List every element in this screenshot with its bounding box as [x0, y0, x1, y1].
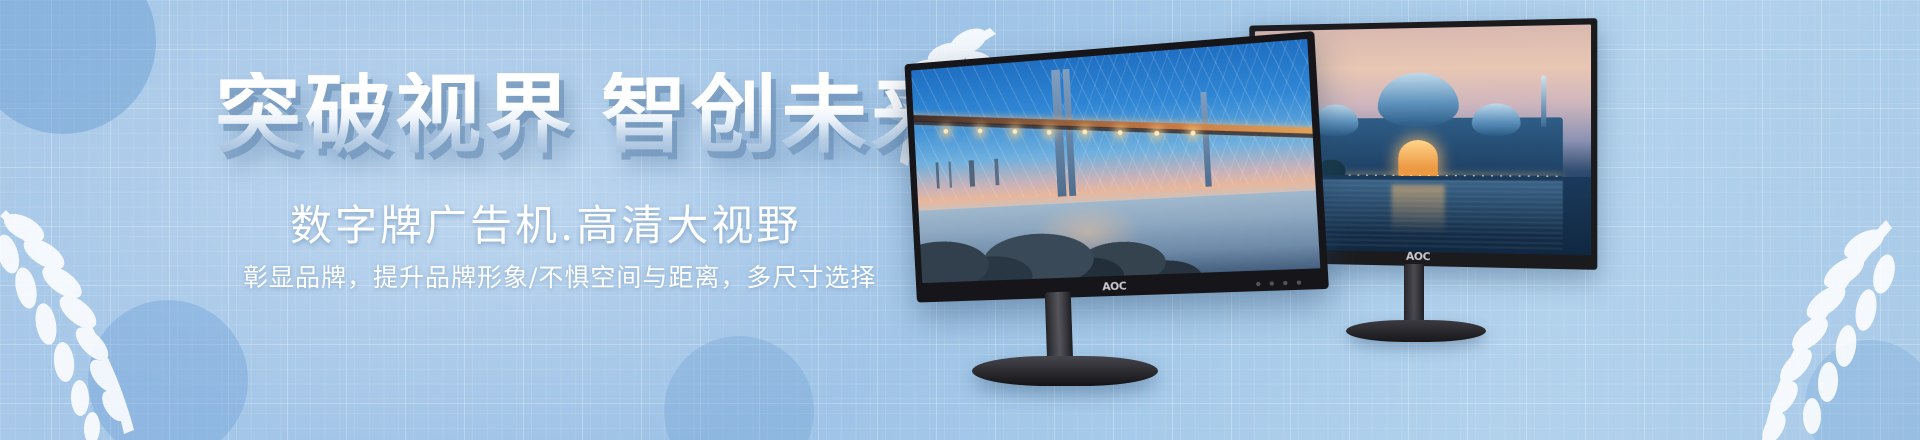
monitor-stand-neck: [1404, 264, 1424, 326]
bridge-cables-right: [1055, 39, 1315, 190]
foreground-rocks: [911, 210, 1203, 283]
page-title: 突破视界智创未来: [215, 72, 961, 158]
monitor-control-buttons[interactable]: [1256, 280, 1301, 286]
brand-logo: AOC: [1406, 250, 1430, 263]
monitor-stand-base: [1346, 320, 1486, 342]
decor-circle-bottom-right: [1805, 340, 1920, 440]
mosque-minaret-right: [1542, 76, 1547, 126]
mosque-reflection-glow: [1391, 185, 1445, 244]
mosque-arch: [1398, 140, 1438, 176]
product-monitor-left: AOC: [898, 48, 1338, 398]
bridge-lamp: [1012, 129, 1017, 134]
monitor-stand-base: [972, 356, 1158, 386]
bridge-lamp: [1047, 129, 1052, 134]
promo-banner: 突破视界智创未来 数字牌广告机.高清大视野 彰显品牌，提升品牌形象/不惧空间与距…: [0, 0, 1920, 440]
subtitle: 数字牌广告机.高清大视野: [290, 192, 801, 253]
mosque-dome-main: [1378, 72, 1459, 126]
monitor-button[interactable]: [1270, 281, 1274, 285]
monitor-button[interactable]: [1256, 282, 1260, 286]
copy-block: 突破视界智创未来 数字牌广告机.高清大视野 彰显品牌，提升品牌形象/不惧空间与距…: [0, 0, 900, 440]
mosque-dome-right: [1472, 103, 1520, 135]
monitor-button[interactable]: [1297, 280, 1301, 284]
bridge-lamp: [1154, 130, 1159, 135]
headline-part-1: 突破视界: [215, 65, 575, 165]
monitor-button[interactable]: [1283, 281, 1287, 285]
monitor-screen: [911, 39, 1320, 283]
tagline: 彰显品牌，提升品牌形象/不惧空间与距离，多尺寸选择: [243, 258, 876, 294]
screen-image-bridge: [911, 39, 1320, 283]
fern-leaf-icon: [1658, 214, 1898, 440]
monitor-bezel: AOC: [904, 31, 1328, 302]
brand-logo: AOC: [1102, 280, 1127, 294]
